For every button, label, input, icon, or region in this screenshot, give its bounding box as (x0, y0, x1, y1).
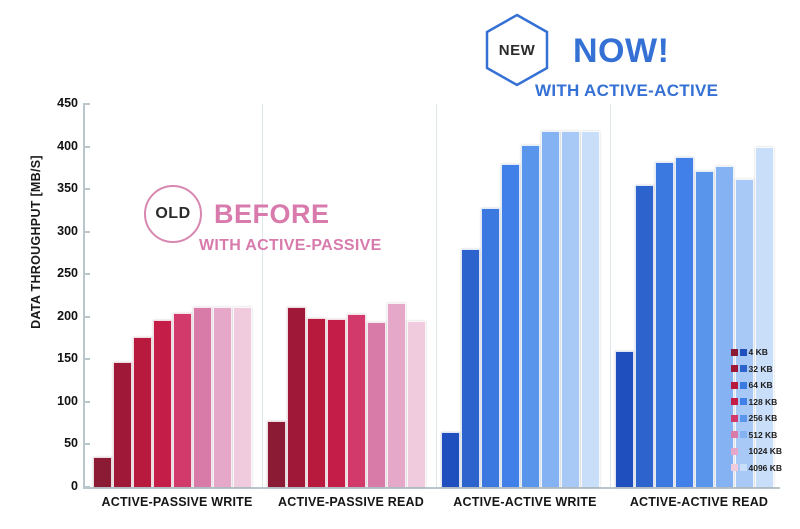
legend-swatch-red (731, 431, 738, 438)
x-axis-label: ACTIVE-PASSIVE WRITE (93, 495, 261, 509)
group-separator (610, 104, 611, 487)
now-subheadline: WITH ACTIVE-ACTIVE (535, 82, 718, 99)
legend-swatch-blue (740, 365, 747, 372)
bar[interactable] (93, 457, 112, 487)
legend-swatch-red (731, 448, 738, 455)
bar[interactable] (561, 131, 580, 487)
bar[interactable] (113, 362, 132, 487)
x-axis-label: ACTIVE-PASSIVE READ (267, 495, 435, 509)
now-headline: NOW! (573, 34, 669, 68)
bar[interactable] (307, 318, 326, 487)
bar[interactable] (481, 208, 500, 487)
bar-group (93, 104, 261, 487)
legend-item[interactable]: 1024 KB (731, 443, 782, 460)
before-headline: BEFORE (214, 201, 330, 228)
bar[interactable] (521, 145, 540, 487)
legend-item[interactable]: 512 KB (731, 427, 782, 444)
bar[interactable] (173, 313, 192, 487)
legend-swatch-red (731, 464, 738, 471)
legend-label: 1024 KB (749, 446, 783, 456)
bar[interactable] (635, 185, 654, 487)
bar[interactable] (287, 307, 306, 487)
y-axis-tick-label: 100 (36, 394, 78, 408)
y-axis-tick-label: 350 (36, 181, 78, 195)
bar[interactable] (675, 157, 694, 487)
x-axis-label: ACTIVE-ACTIVE READ (615, 495, 783, 509)
bar[interactable] (327, 319, 346, 487)
bar[interactable] (615, 351, 634, 487)
bar[interactable] (347, 314, 366, 487)
y-axis-tick-label: 200 (36, 309, 78, 323)
y-axis-tick-label: 150 (36, 351, 78, 365)
legend-swatch-red (731, 398, 738, 405)
bar-group (267, 104, 435, 487)
legend-item[interactable]: 128 KB (731, 394, 782, 411)
y-axis-tick-label: 250 (36, 266, 78, 280)
chart-canvas: DATA THROUGHPUT [MB/S] 05010015020025030… (0, 0, 800, 529)
legend-swatch-blue (740, 431, 747, 438)
legend-label: 256 KB (749, 413, 778, 423)
y-axis-tick-label: 0 (36, 479, 78, 493)
group-separator (262, 104, 263, 487)
legend: 4 KB32 KB64 KB128 KB256 KB512 KB1024 KB4… (731, 344, 782, 476)
legend-swatch-red (731, 365, 738, 372)
bar[interactable] (407, 321, 426, 487)
bar[interactable] (501, 164, 520, 487)
legend-label: 4 KB (749, 347, 768, 357)
y-axis-tick-label: 300 (36, 224, 78, 238)
bar[interactable] (695, 171, 714, 487)
legend-swatch-red (731, 415, 738, 422)
bar-group (441, 104, 609, 487)
legend-swatch-blue (740, 382, 747, 389)
bar[interactable] (367, 322, 386, 487)
bar[interactable] (581, 131, 600, 487)
bar[interactable] (133, 337, 152, 487)
legend-item[interactable]: 32 KB (731, 361, 782, 378)
legend-swatch-blue (740, 464, 747, 471)
legend-label: 32 KB (749, 364, 773, 374)
legend-label: 128 KB (749, 397, 778, 407)
old-badge: OLD (144, 185, 202, 243)
legend-item[interactable]: 64 KB (731, 377, 782, 394)
legend-swatch-red (731, 349, 738, 356)
bar[interactable] (233, 307, 252, 487)
bar[interactable] (267, 421, 286, 487)
legend-label: 512 KB (749, 430, 778, 440)
bar[interactable] (213, 307, 232, 487)
y-axis-tick-label: 50 (36, 436, 78, 450)
bar[interactable] (541, 131, 560, 487)
legend-item[interactable]: 256 KB (731, 410, 782, 427)
x-axis-label: ACTIVE-ACTIVE WRITE (441, 495, 609, 509)
group-separator (436, 104, 437, 487)
legend-label: 4096 KB (749, 463, 783, 473)
bar[interactable] (655, 162, 674, 487)
new-badge-label: NEW (499, 42, 536, 59)
legend-swatch-blue (740, 448, 747, 455)
legend-label: 64 KB (749, 380, 773, 390)
legend-swatch-blue (740, 349, 747, 356)
bar[interactable] (153, 320, 172, 487)
legend-swatch-red (731, 382, 738, 389)
bar[interactable] (441, 432, 460, 487)
bar[interactable] (461, 249, 480, 487)
plot-area (85, 104, 780, 487)
legend-item[interactable]: 4 KB (731, 344, 782, 361)
bar[interactable] (387, 303, 406, 487)
before-subheadline: WITH ACTIVE-PASSIVE (199, 238, 382, 254)
legend-swatch-blue (740, 415, 747, 422)
y-axis-tick-label: 400 (36, 139, 78, 153)
legend-swatch-blue (740, 398, 747, 405)
legend-item[interactable]: 4096 KB (731, 460, 782, 477)
old-badge-label: OLD (155, 205, 190, 223)
bar[interactable] (193, 307, 212, 487)
x-axis-line (83, 487, 780, 489)
y-axis-tick-label: 450 (36, 96, 78, 110)
new-badge: NEW (484, 13, 550, 87)
